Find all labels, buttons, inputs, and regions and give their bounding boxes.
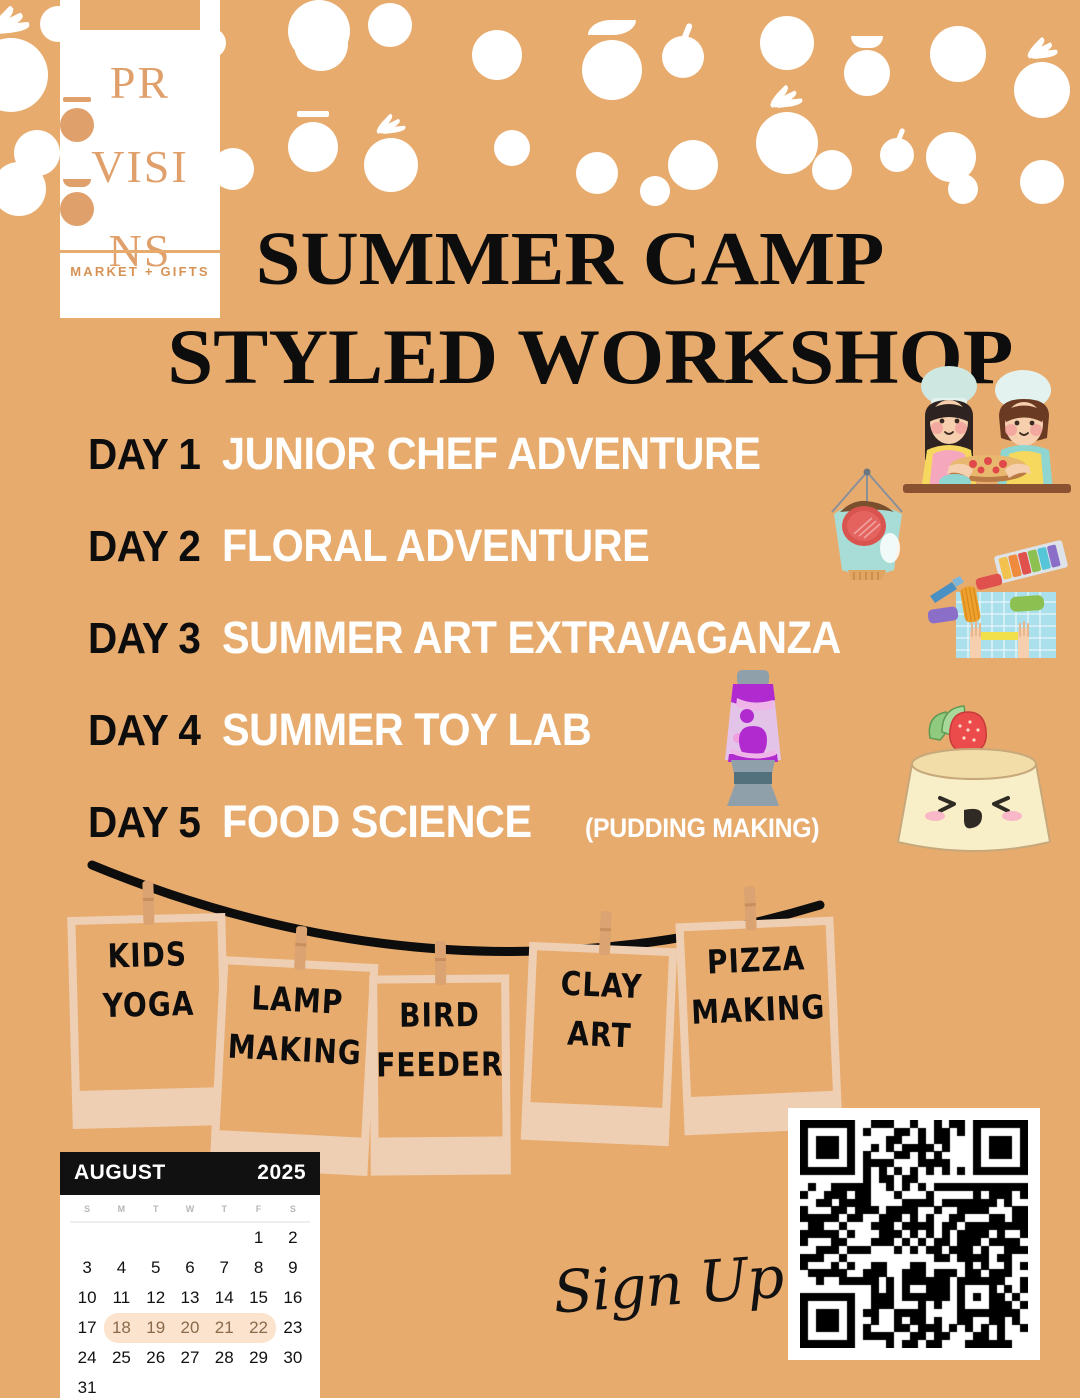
calendar-day-cell[interactable]: 24	[70, 1343, 104, 1373]
calendar-week: 10111213141516	[70, 1283, 310, 1313]
polaroid-label-line-1: BIRD	[373, 990, 505, 1041]
polaroid-card: BIRDFEEDER	[369, 974, 511, 1175]
calendar-empty-cell	[139, 1373, 173, 1398]
calendar-week-rows: 1234567891011121314151617181920212223242…	[70, 1222, 310, 1398]
fruit-circle-icon	[0, 38, 48, 112]
polaroid-label-line-1: LAMP	[221, 972, 373, 1029]
day-activity-title: SUMMER TOY LAB	[222, 704, 591, 756]
title-line-2: STYLED WORKSHOP	[167, 308, 973, 406]
polaroid-card: PIZZAMAKING	[675, 917, 842, 1136]
day-row: DAY 3SUMMER ART EXTRAVAGANZA	[88, 612, 958, 704]
calendar-day-cell[interactable]: 27	[173, 1343, 207, 1373]
calendar-weekday: W	[173, 1203, 207, 1222]
fruit-circle-icon	[948, 174, 978, 204]
calendar-day-cell[interactable]: 13	[173, 1283, 207, 1313]
polaroid-label-line-2: MAKING	[219, 1022, 371, 1079]
sign-up-label: Sign Up:	[551, 1241, 804, 1326]
fruit-circle-icon	[364, 138, 418, 192]
calendar-grid: SMTWTFS 12345678910111213141516171819202…	[70, 1203, 310, 1398]
calendar-day-cell[interactable]: 6	[173, 1253, 207, 1283]
calendar-empty-cell	[207, 1373, 241, 1398]
calendar-year: 2025	[257, 1161, 306, 1185]
day-schedule-list: DAY 1JUNIOR CHEF ADVENTUREDAY 2FLORAL AD…	[88, 428, 958, 888]
polaroid-label-line-2: ART	[528, 1008, 670, 1064]
poster-canvas: PR VISI NS MARKET + GIFTS SUMMER CAMP ST…	[0, 0, 1080, 1398]
calendar-weekday: F	[241, 1203, 275, 1222]
polaroid-label: BIRDFEEDER	[373, 990, 506, 1090]
clothespin-icon	[744, 886, 757, 930]
fruit-circle-icon	[640, 176, 670, 206]
calendar-day-cell[interactable]: 25	[104, 1343, 138, 1373]
fruit-circle-icon	[582, 40, 642, 100]
calendar-empty-cell	[241, 1373, 275, 1398]
fruit-circle-icon	[576, 152, 618, 194]
calendar-empty-cell	[276, 1373, 310, 1398]
calendar-day-cell[interactable]: 8	[241, 1253, 275, 1283]
tilde-mark-icon	[588, 20, 636, 36]
day-number: DAY 4	[88, 706, 200, 756]
page-title: SUMMER CAMP STYLED WORKSHOP	[167, 210, 973, 406]
fruit-circle-icon	[812, 150, 852, 190]
fruit-circle-icon	[880, 138, 914, 172]
calendar-week: 3456789	[70, 1253, 310, 1283]
fruit-circle-icon	[756, 112, 818, 174]
polaroid-label: LAMPMAKING	[219, 972, 374, 1079]
macron-mark-icon	[297, 111, 329, 117]
calendar-week: 24252627282930	[70, 1343, 310, 1373]
logo-o-macron-icon	[60, 108, 94, 142]
calendar-day-cell[interactable]: 30	[276, 1343, 310, 1373]
polaroid-card: LAMPMAKING	[210, 956, 379, 1176]
fruit-circle-icon	[662, 36, 704, 78]
calendar-day-cell[interactable]: 11	[104, 1283, 138, 1313]
calendar-day-cell-highlighted[interactable]: 19	[139, 1313, 173, 1343]
fruit-circle-icon	[368, 3, 412, 47]
day-activity-note: (PUDDING MAKING)	[585, 813, 819, 844]
calendar-weekday: T	[207, 1203, 241, 1222]
fruit-circle-icon	[844, 50, 890, 96]
calendar-weekday-row: SMTWTFS	[70, 1203, 310, 1222]
clothespin-icon	[599, 911, 612, 955]
calendar-empty-cell	[173, 1373, 207, 1398]
calendar-day-cell[interactable]: 23	[276, 1313, 310, 1343]
day-number: DAY 5	[88, 798, 200, 848]
polaroid-card: KIDSYOGA	[67, 913, 230, 1129]
polaroid-label-line-2: MAKING	[682, 982, 834, 1038]
fruit-circle-icon	[668, 140, 718, 190]
calendar-day-cell[interactable]: 9	[276, 1253, 310, 1283]
title-line-1: SUMMER CAMP	[167, 210, 973, 308]
calendar-empty-cell	[104, 1373, 138, 1398]
calendar-day-cell-highlighted[interactable]: 20	[173, 1313, 207, 1343]
calendar-week: 17181920212223	[70, 1313, 310, 1343]
calendar-day-cell[interactable]: 29	[241, 1343, 275, 1373]
calendar-day-cell[interactable]: 28	[207, 1343, 241, 1373]
calendar-day-cell[interactable]: 3	[70, 1253, 104, 1283]
day-row: DAY 4SUMMER TOY LAB	[88, 704, 958, 796]
calendar-month: AUGUST	[74, 1161, 166, 1185]
calendar-day-cell[interactable]: 5	[139, 1253, 173, 1283]
fruit-circle-icon	[930, 26, 986, 82]
calendar-day-cell[interactable]: 15	[241, 1283, 275, 1313]
day-activity-title: FLORAL ADVENTURE	[222, 520, 649, 572]
day-activity-title: FOOD SCIENCE	[222, 796, 532, 848]
calendar-day-cell[interactable]: 10	[70, 1283, 104, 1313]
calendar-day-cell[interactable]: 2	[276, 1222, 310, 1253]
calendar-week: 31	[70, 1373, 310, 1398]
calendar-day-cell[interactable]: 26	[139, 1343, 173, 1373]
logo-o-breve-icon	[60, 192, 94, 226]
polaroid-label-line-2: YOGA	[73, 979, 224, 1032]
august-calendar: AUGUST 2025 SMTWTFS 12345678910111213141…	[60, 1152, 320, 1398]
day-row: DAY 2FLORAL ADVENTURE	[88, 520, 958, 612]
calendar-empty-cell	[207, 1222, 241, 1253]
polaroid-label-line-1: PIZZA	[680, 933, 832, 989]
fruit-circle-icon	[294, 17, 348, 71]
day-row: DAY 1JUNIOR CHEF ADVENTURE	[88, 428, 958, 520]
breve-mark-icon	[851, 36, 882, 48]
polaroid-card: CLAYART	[521, 942, 677, 1146]
calendar-empty-cell	[173, 1222, 207, 1253]
day-activity-title: JUNIOR CHEF ADVENTURE	[222, 428, 761, 480]
calendar-day-cell[interactable]: 14	[207, 1283, 241, 1313]
fruit-circle-icon	[1014, 62, 1070, 118]
day-number: DAY 2	[88, 522, 200, 572]
calendar-day-cell[interactable]: 7	[207, 1253, 241, 1283]
calendar-day-cell-highlighted[interactable]: 21	[207, 1313, 241, 1343]
calendar-weekday: T	[139, 1203, 173, 1222]
day-activity-title: SUMMER ART EXTRAVAGANZA	[222, 612, 841, 664]
fruit-circle-icon	[760, 16, 814, 70]
day-row: DAY 5FOOD SCIENCE(PUDDING MAKING)	[88, 796, 958, 888]
calendar-weekday: M	[104, 1203, 138, 1222]
calendar-weekday: S	[276, 1203, 310, 1222]
polaroid-label-line-2: FEEDER	[374, 1040, 506, 1091]
calendar-week: 12	[70, 1222, 310, 1253]
calendar-empty-cell	[104, 1222, 138, 1253]
polaroid-label-line-1: CLAY	[531, 958, 673, 1014]
fruit-circle-icon	[494, 130, 530, 166]
fruit-circle-icon	[0, 162, 46, 216]
calendar-day-cell[interactable]: 17	[70, 1313, 104, 1343]
qr-code[interactable]	[788, 1108, 1040, 1360]
calendar-day-cell[interactable]: 4	[104, 1253, 138, 1283]
calendar-empty-cell	[139, 1222, 173, 1253]
calendar-day-cell[interactable]: 12	[139, 1283, 173, 1313]
calendar-day-cell-highlighted[interactable]: 22	[241, 1313, 275, 1343]
polaroid-label-line-1: KIDS	[72, 929, 223, 982]
calendar-day-cell[interactable]: 31	[70, 1373, 104, 1398]
clothespin-icon	[294, 926, 307, 971]
qr-code-canvas[interactable]	[800, 1120, 1028, 1348]
polaroid-label: KIDSYOGA	[72, 929, 225, 1032]
calendar-day-cell-highlighted[interactable]: 18	[104, 1313, 138, 1343]
day-number: DAY 1	[88, 430, 200, 480]
fruit-circle-icon	[472, 30, 522, 80]
fruit-circle-icon	[288, 122, 338, 172]
logo-notch	[80, 0, 200, 30]
clothespin-icon	[435, 941, 446, 985]
fruit-circle-icon	[1020, 160, 1064, 204]
polaroid-label: CLAYART	[528, 958, 672, 1063]
calendar-body: SMTWTFS 12345678910111213141516171819202…	[60, 1195, 320, 1398]
polaroid-label: PIZZAMAKING	[680, 933, 834, 1039]
calendar-day-cell[interactable]: 1	[241, 1222, 275, 1253]
calendar-header: AUGUST 2025	[60, 1152, 320, 1195]
logo-line-1: PR	[60, 58, 220, 142]
calendar-weekday: S	[70, 1203, 104, 1222]
day-number: DAY 3	[88, 614, 200, 664]
calendar-empty-cell	[70, 1222, 104, 1253]
calendar-day-cell[interactable]: 16	[276, 1283, 310, 1313]
